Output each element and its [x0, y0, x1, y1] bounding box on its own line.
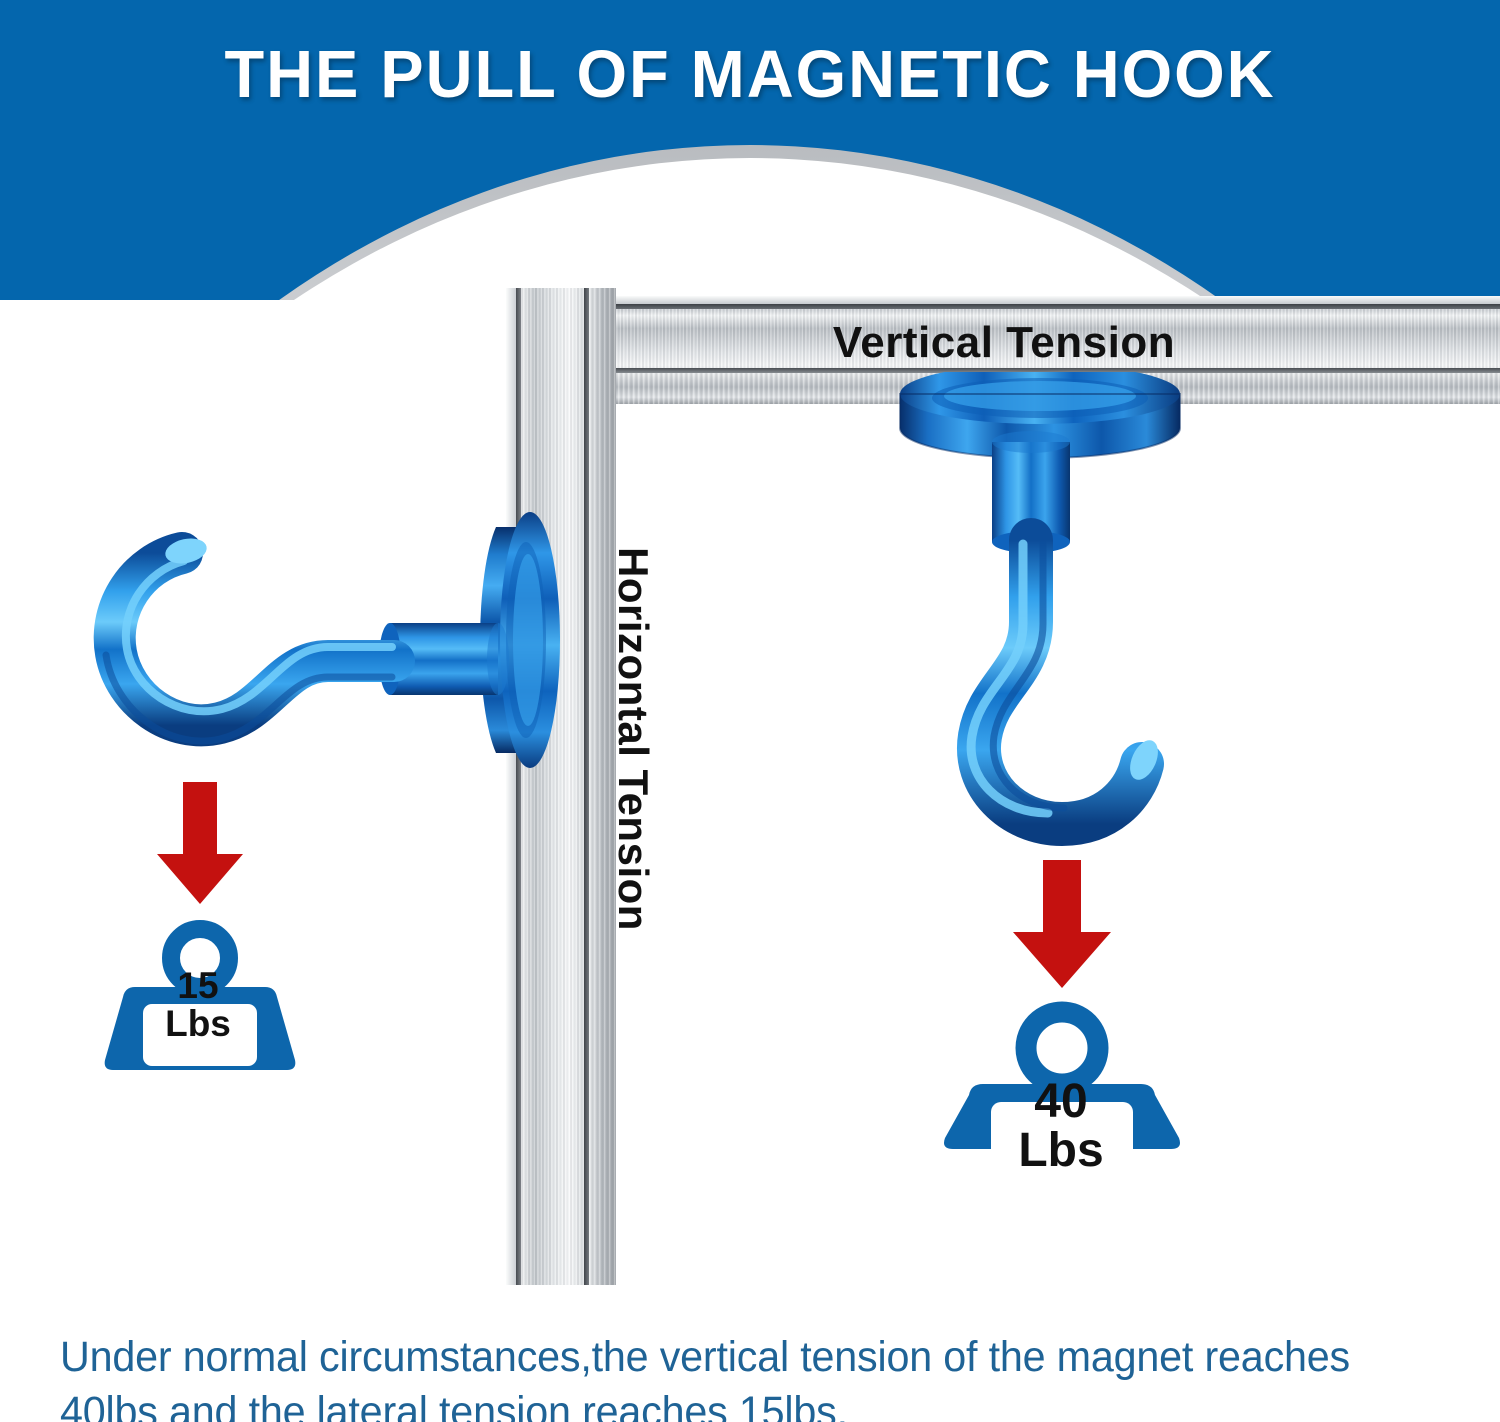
horizontal-magnetic-hook-icon: [60, 495, 560, 785]
left-weight-indicator: 15 Lbs: [95, 782, 305, 1077]
force-arrow-down-icon: [157, 782, 243, 904]
page-title: THE PULL OF MAGNETIC HOOK: [23, 36, 1478, 113]
horizontal-tension-label: Horizontal Tension: [609, 529, 657, 949]
left-hook-assembly: [60, 495, 560, 790]
force-arrow-down-icon: [1013, 860, 1111, 988]
vertical-magnetic-hook-icon: [880, 372, 1200, 852]
weight-right-label: 40 Lbs: [997, 1078, 1125, 1176]
right-weight-indicator: 40 Lbs: [935, 860, 1195, 1155]
right-hook-assembly: [880, 372, 1200, 857]
ceiling-bar-edge-top: [508, 304, 1500, 309]
ceiling-bar-lip: [508, 296, 1500, 304]
caption-text: Under normal circumstances,the vertical …: [60, 1330, 1394, 1422]
infographic-page: THE PULL OF MAGNETIC HOOK Vertical Tensi…: [0, 0, 1500, 1422]
vertical-tension-label: Vertical Tension: [508, 318, 1500, 368]
weight-left-label: 15 Lbs: [152, 967, 244, 1042]
